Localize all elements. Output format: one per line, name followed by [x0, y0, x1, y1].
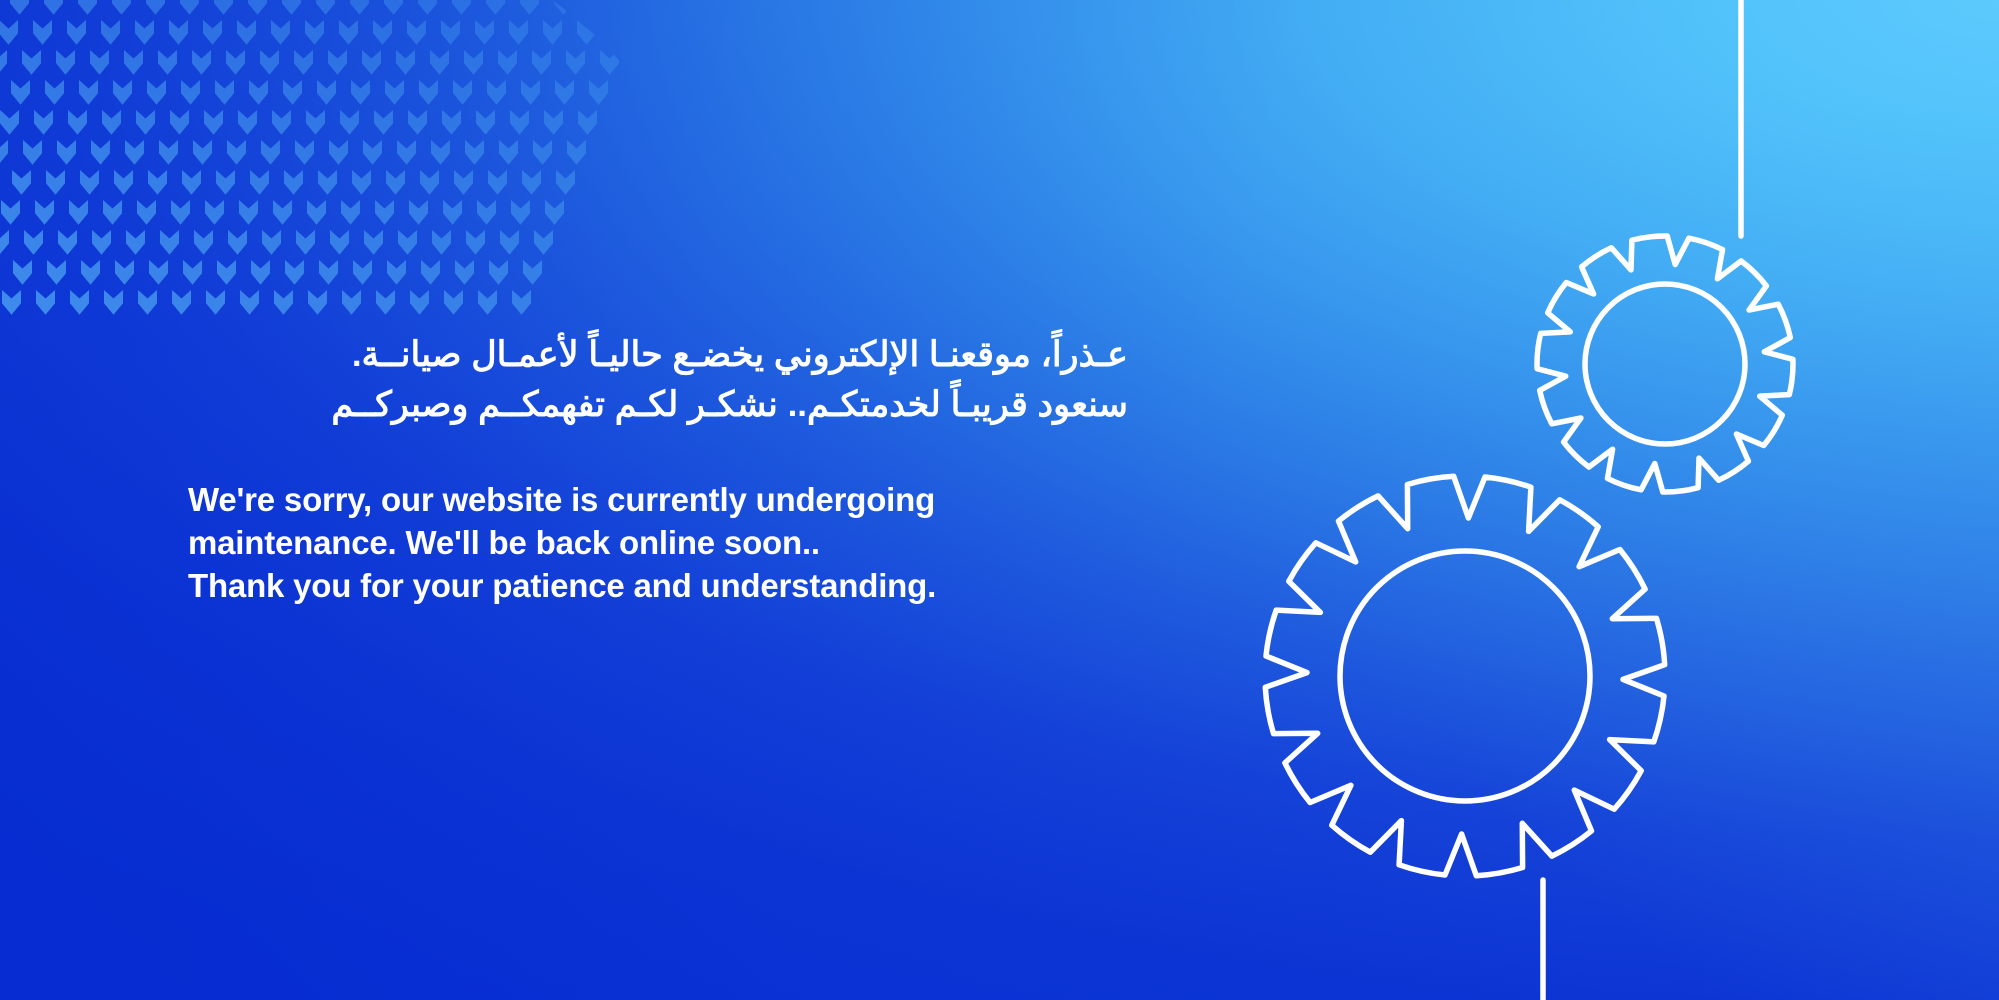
english-line-3: Thank you for your patience and understa…: [188, 564, 1148, 607]
message-block: عـذراً، موقعنـا الإلكتروني يخضـع حاليـاً…: [188, 330, 1148, 607]
english-line-2: maintenance. We'll be back online soon..: [188, 521, 1148, 564]
english-message: We're sorry, our website is currently un…: [188, 478, 1148, 607]
arabic-message: عـذراً، موقعنـا الإلكتروني يخضـع حاليـاً…: [188, 330, 1128, 430]
arabic-line-1: عـذراً، موقعنـا الإلكتروني يخضـع حاليـاً…: [188, 330, 1128, 380]
maintenance-page: عـذراً، موقعنـا الإلكتروني يخضـع حاليـاً…: [0, 0, 1999, 1000]
arabic-line-2: سنعود قريبـاً لخدمتكـم.. نشكـر لكـم تفهم…: [188, 380, 1128, 430]
english-line-1: We're sorry, our website is currently un…: [188, 478, 1148, 521]
